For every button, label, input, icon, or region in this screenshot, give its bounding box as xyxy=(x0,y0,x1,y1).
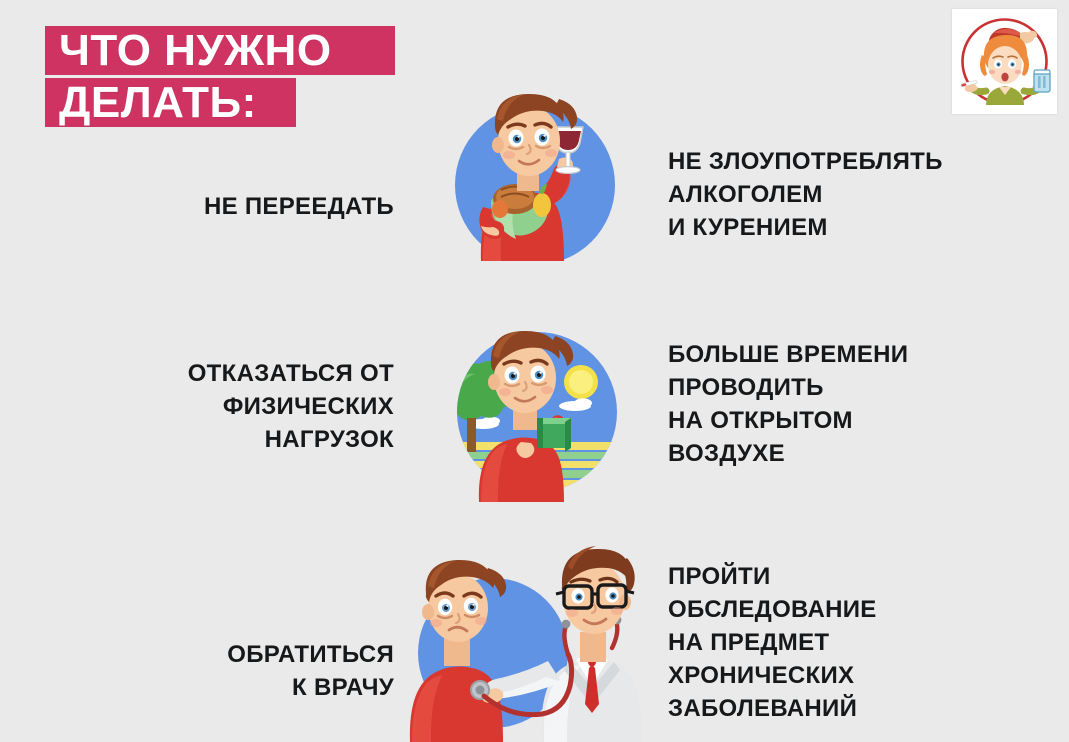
label-row-3-right: ПРОЙТИ ОБСЛЕДОВАНИЕ НА ПРЕДМЕТ ХРОНИЧЕСК… xyxy=(668,560,877,725)
label-row-1-right: НЕ ЗЛОУПОТРЕБЛЯТЬ АЛКОГОЛЕМ И КУРЕНИЕМ xyxy=(668,145,943,244)
label-line: НАГРУЗОК xyxy=(188,423,394,456)
label-line: ХРОНИЧЕСКИХ xyxy=(668,659,877,692)
label-line: НА ПРЕДМЕТ xyxy=(668,626,877,659)
label-line: АЛКОГОЛЕМ xyxy=(668,178,943,211)
label-line: ЗАБОЛЕВАНИЙ xyxy=(668,692,877,725)
label-line: НА ОТКРЫТОМ xyxy=(668,404,908,437)
label-line: ОБРАТИТЬСЯ xyxy=(227,638,394,671)
boy-with-food-and-wine-artwork xyxy=(447,83,627,261)
label-line: ПРОЙТИ xyxy=(668,560,877,593)
label-line: К ВРАЧУ xyxy=(227,671,394,704)
label-line: ПРОВОДИТЬ xyxy=(668,371,908,404)
label-line: И КУРЕНИЕМ xyxy=(668,211,943,244)
infographic-poster: ЧТО НУЖНО ДЕЛАТЬ: xyxy=(0,0,1069,742)
title-line-1-text: ЧТО НУЖНО xyxy=(59,26,332,75)
label-row-2-left: ОТКАЗАТЬСЯ ОТ ФИЗИЧЕСКИХ НАГРУЗОК xyxy=(188,357,394,456)
label-line: ОТКАЗАТЬСЯ ОТ xyxy=(188,357,394,390)
title-line-2-text: ДЕЛАТЬ: xyxy=(59,78,257,127)
label-line: ФИЗИЧЕСКИХ xyxy=(188,390,394,423)
illustration-row-3 xyxy=(400,520,670,742)
title-line-1: ЧТО НУЖНО xyxy=(45,26,400,75)
sick-woman-logo xyxy=(952,9,1057,114)
label-line: НЕ ЗЛОУПОТРЕБЛЯТЬ xyxy=(668,145,943,178)
title-line-2: ДЕЛАТЬ: xyxy=(45,78,400,127)
label-line: НЕ ПЕРЕЕДАТЬ xyxy=(204,190,394,223)
logo-artwork xyxy=(952,9,1057,114)
illustration-row-2 xyxy=(447,302,627,502)
label-row-2-right: БОЛЬШЕ ВРЕМЕНИ ПРОВОДИТЬ НА ОТКРЫТОМ ВОЗ… xyxy=(668,338,908,470)
label-line: ОБСЛЕДОВАНИЕ xyxy=(668,593,877,626)
boy-outdoors-artwork xyxy=(447,302,627,502)
poster-title: ЧТО НУЖНО ДЕЛАТЬ: xyxy=(45,26,400,127)
illustration-row-1 xyxy=(447,83,627,261)
doctor-examining-boy-artwork xyxy=(400,520,670,742)
label-row-1-left: НЕ ПЕРЕЕДАТЬ xyxy=(204,190,394,223)
label-line: ВОЗДУХЕ xyxy=(668,437,908,470)
label-line: БОЛЬШЕ ВРЕМЕНИ xyxy=(668,338,908,371)
label-row-3-left: ОБРАТИТЬСЯ К ВРАЧУ xyxy=(227,638,394,704)
